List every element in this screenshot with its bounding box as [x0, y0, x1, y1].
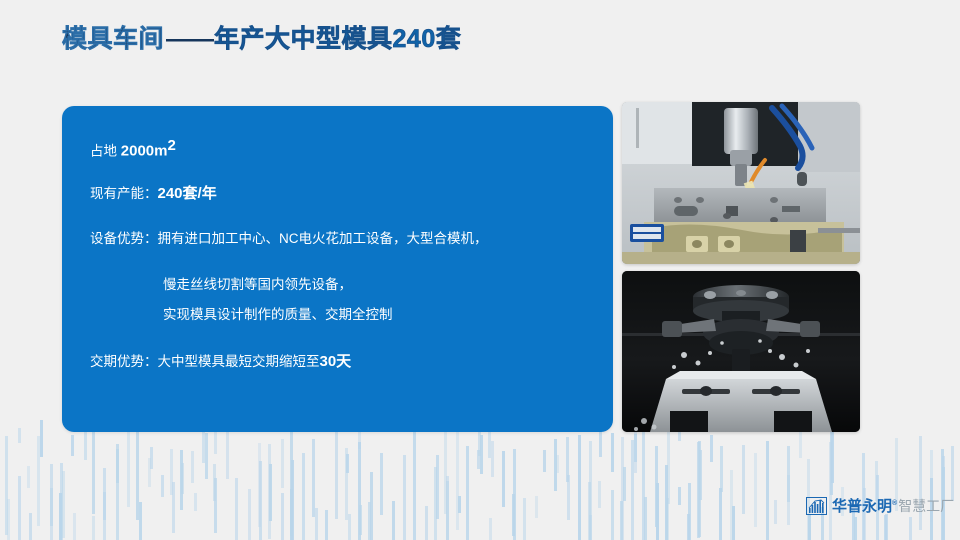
info-panel: 占地 2000m2 现有产能：240套/年 设备优势：拥有进口加工中心、NC电火… [62, 106, 613, 432]
vertical-bar [480, 435, 483, 474]
vertical-bar [116, 449, 119, 540]
vertical-bar [543, 450, 546, 472]
vertical-bar [345, 448, 348, 520]
vertical-bar [491, 441, 494, 477]
vertical-bar [103, 492, 106, 540]
vertical-bar [403, 455, 406, 540]
vertical-bar [458, 496, 461, 513]
vertical-bar [302, 453, 305, 540]
vertical-bar [710, 435, 713, 462]
vertical-bar [854, 517, 857, 540]
vertical-bar [656, 499, 659, 540]
vertical-bar [951, 446, 954, 501]
vertical-bar [787, 475, 790, 525]
vertical-bar [71, 435, 74, 456]
vertical-bar [37, 436, 40, 526]
vertical-bar [103, 468, 106, 520]
vertical-bar [502, 451, 505, 507]
vertical-bar [554, 439, 557, 491]
panel-line-equipment-cont1: 慢走丝线切割等国内领先设备， [163, 278, 352, 292]
vertical-bar [40, 420, 43, 457]
vertical-bar [269, 464, 272, 521]
delivery-value: 30天 [320, 353, 352, 370]
vertical-bar [687, 514, 690, 540]
vertical-bar [148, 458, 151, 487]
delivery-label: 交期优势： [90, 354, 158, 369]
vertical-bar [829, 442, 832, 540]
vertical-bar [699, 450, 702, 500]
vertical-bar [136, 432, 139, 520]
vertical-bar [315, 508, 318, 540]
vertical-bar [688, 483, 691, 540]
vertical-bar [489, 518, 492, 540]
logo-trademark: ® [892, 500, 897, 507]
vertical-bar [213, 464, 216, 501]
vertical-bar [434, 467, 437, 540]
vertical-bar [656, 483, 659, 540]
vertical-bar [513, 449, 516, 540]
vertical-bar [392, 501, 395, 540]
capacity-label: 现有产能： [90, 186, 158, 201]
bar-building-icon [806, 497, 827, 515]
vertical-bar [50, 488, 53, 540]
vertical-bar [205, 433, 208, 479]
vertical-bar [512, 494, 515, 536]
vertical-bar [358, 442, 361, 540]
vertical-bar [116, 444, 119, 483]
vertical-bar [73, 513, 76, 540]
vertical-bar [139, 502, 142, 540]
vertical-bar [754, 453, 757, 527]
vertical-bar [18, 476, 21, 540]
vertical-bar [281, 493, 284, 540]
vertical-bar [611, 433, 614, 472]
delivery-text: 大中型模具最短交期缩短至 [158, 354, 320, 369]
panel-line-equipment-cont2: 实现模具设计制作的质量、交期全控制 [163, 308, 393, 322]
vertical-bar [413, 427, 416, 540]
panel-line-capacity: 现有产能：240套/年 [90, 186, 217, 201]
vertical-bar [634, 434, 637, 462]
vertical-bar [444, 424, 447, 514]
vertical-bar [589, 441, 592, 540]
vertical-bar [161, 475, 164, 497]
vertical-bar [598, 481, 601, 508]
vertical-bar [172, 482, 175, 533]
vertical-bar [18, 428, 21, 443]
area-unit-superscript: 2 [167, 137, 175, 154]
vertical-bar [556, 455, 559, 473]
vertical-bar [719, 488, 722, 540]
vertical-bar [27, 466, 30, 488]
vertical-bar [436, 455, 439, 519]
vertical-bar [346, 454, 349, 473]
vertical-bar [248, 489, 251, 540]
vertical-bar [214, 431, 217, 454]
vertical-bar [170, 449, 173, 495]
vertical-bar [620, 501, 623, 540]
vertical-bar [191, 451, 194, 483]
vertical-bar [831, 423, 834, 483]
vertical-bar [92, 516, 95, 540]
vertical-bar [268, 444, 271, 539]
vertical-bar [466, 446, 469, 540]
vertical-bar [599, 428, 602, 457]
vertical-bar [678, 487, 681, 505]
vertical-bar [665, 465, 668, 540]
vertical-bar [730, 470, 733, 540]
vertical-bar [732, 506, 735, 540]
page-title-dash: —— [164, 25, 214, 53]
vertical-bar [697, 442, 700, 538]
vertical-bar [370, 472, 373, 540]
vertical-bar [578, 435, 581, 540]
vertical-bar [60, 463, 63, 540]
vertical-bar [181, 463, 184, 494]
page-title-dark-part: 模具车间 [62, 25, 164, 53]
vertical-bar [348, 514, 351, 540]
vertical-bar [312, 439, 315, 517]
vertical-bar [446, 476, 449, 540]
vertical-bar [446, 481, 449, 540]
vertical-bar [477, 450, 480, 469]
vertical-bar [127, 423, 130, 507]
page-title: 模具车间——年产大中型模具240套 [62, 27, 461, 52]
vertical-bar [523, 498, 526, 540]
vertical-bar [335, 430, 338, 519]
vertical-bar [884, 515, 887, 540]
cnc-spindle-dark-illustration [622, 271, 860, 432]
vertical-bar [535, 496, 538, 518]
capacity-value: 240套/年 [158, 185, 217, 202]
panel-line-area: 占地 2000m2 [90, 138, 176, 159]
vertical-bar [62, 471, 65, 538]
vertical-bar [611, 490, 614, 540]
vertical-bar [359, 505, 362, 535]
vertical-bar [621, 437, 624, 540]
vertical-bar [281, 439, 284, 488]
vertical-bar [589, 515, 592, 540]
area-value: 2000 [121, 143, 154, 160]
vertical-bar [588, 482, 591, 540]
vertical-bar [7, 499, 10, 540]
equipment-text: 拥有进口加工中心、NC电火花加工设备，大型合模机， [158, 231, 488, 246]
vertical-bar [720, 446, 723, 492]
vertical-bar [290, 420, 293, 536]
area-label: 占地 [90, 144, 121, 159]
equipment-label: 设备优势： [90, 231, 158, 246]
logo-company-name: 华普永明® [832, 499, 897, 514]
vertical-bar [150, 447, 153, 469]
vertical-bar [642, 429, 645, 540]
page-title-blue-part: 年产大中型模具240套 [214, 25, 461, 53]
vertical-bar [290, 489, 293, 540]
vertical-bar [655, 446, 658, 527]
vertical-bar [774, 500, 777, 524]
vertical-bar [259, 461, 262, 540]
vertical-bar [235, 478, 238, 540]
vertical-bar [368, 502, 371, 540]
vertical-bar [50, 464, 53, 526]
vertical-bar [623, 467, 626, 501]
vertical-bar [667, 432, 670, 504]
vertical-bar [29, 513, 32, 540]
cnc-milling-coolant-photo [622, 102, 860, 264]
vertical-bar [180, 450, 183, 510]
logo-subtitle: 智慧工厂 [898, 499, 954, 513]
panel-line-delivery: 交期优势：大中型模具最短交期缩短至30天 [90, 354, 351, 369]
vertical-bar [631, 440, 634, 540]
vertical-bar [291, 460, 294, 540]
vertical-bar [456, 423, 459, 530]
company-logo: 华普永明® 智慧工厂 [806, 494, 954, 518]
logo-company-name-text: 华普永明 [832, 498, 892, 515]
area-unit: m [154, 143, 167, 160]
vertical-bar [59, 493, 62, 540]
panel-line-equipment: 设备优势：拥有进口加工中心、NC电火花加工设备，大型合模机， [90, 232, 488, 246]
vertical-bar [5, 436, 8, 535]
vertical-bar [698, 441, 701, 537]
vertical-bar [787, 446, 790, 502]
vertical-bar [644, 497, 647, 540]
vertical-bar [325, 510, 328, 540]
vertical-bar [92, 431, 95, 514]
slide-canvas: 模具车间——年产大中型模具240套 占地 2000m2 现有产能：240套/年 … [0, 0, 960, 540]
vertical-bar [380, 453, 383, 515]
vertical-bar [742, 445, 745, 514]
vertical-bar [909, 517, 912, 540]
vertical-bar [258, 443, 261, 527]
vertical-bar [566, 437, 569, 482]
vertical-bar [194, 493, 197, 511]
vertical-bar [766, 441, 769, 540]
vertical-bar [666, 498, 669, 540]
cnc-milling-coolant-illustration [622, 102, 860, 264]
vertical-bar [425, 506, 428, 540]
vertical-bar [214, 478, 217, 533]
vertical-bar [567, 475, 570, 520]
cnc-spindle-dark-photo [622, 271, 860, 432]
